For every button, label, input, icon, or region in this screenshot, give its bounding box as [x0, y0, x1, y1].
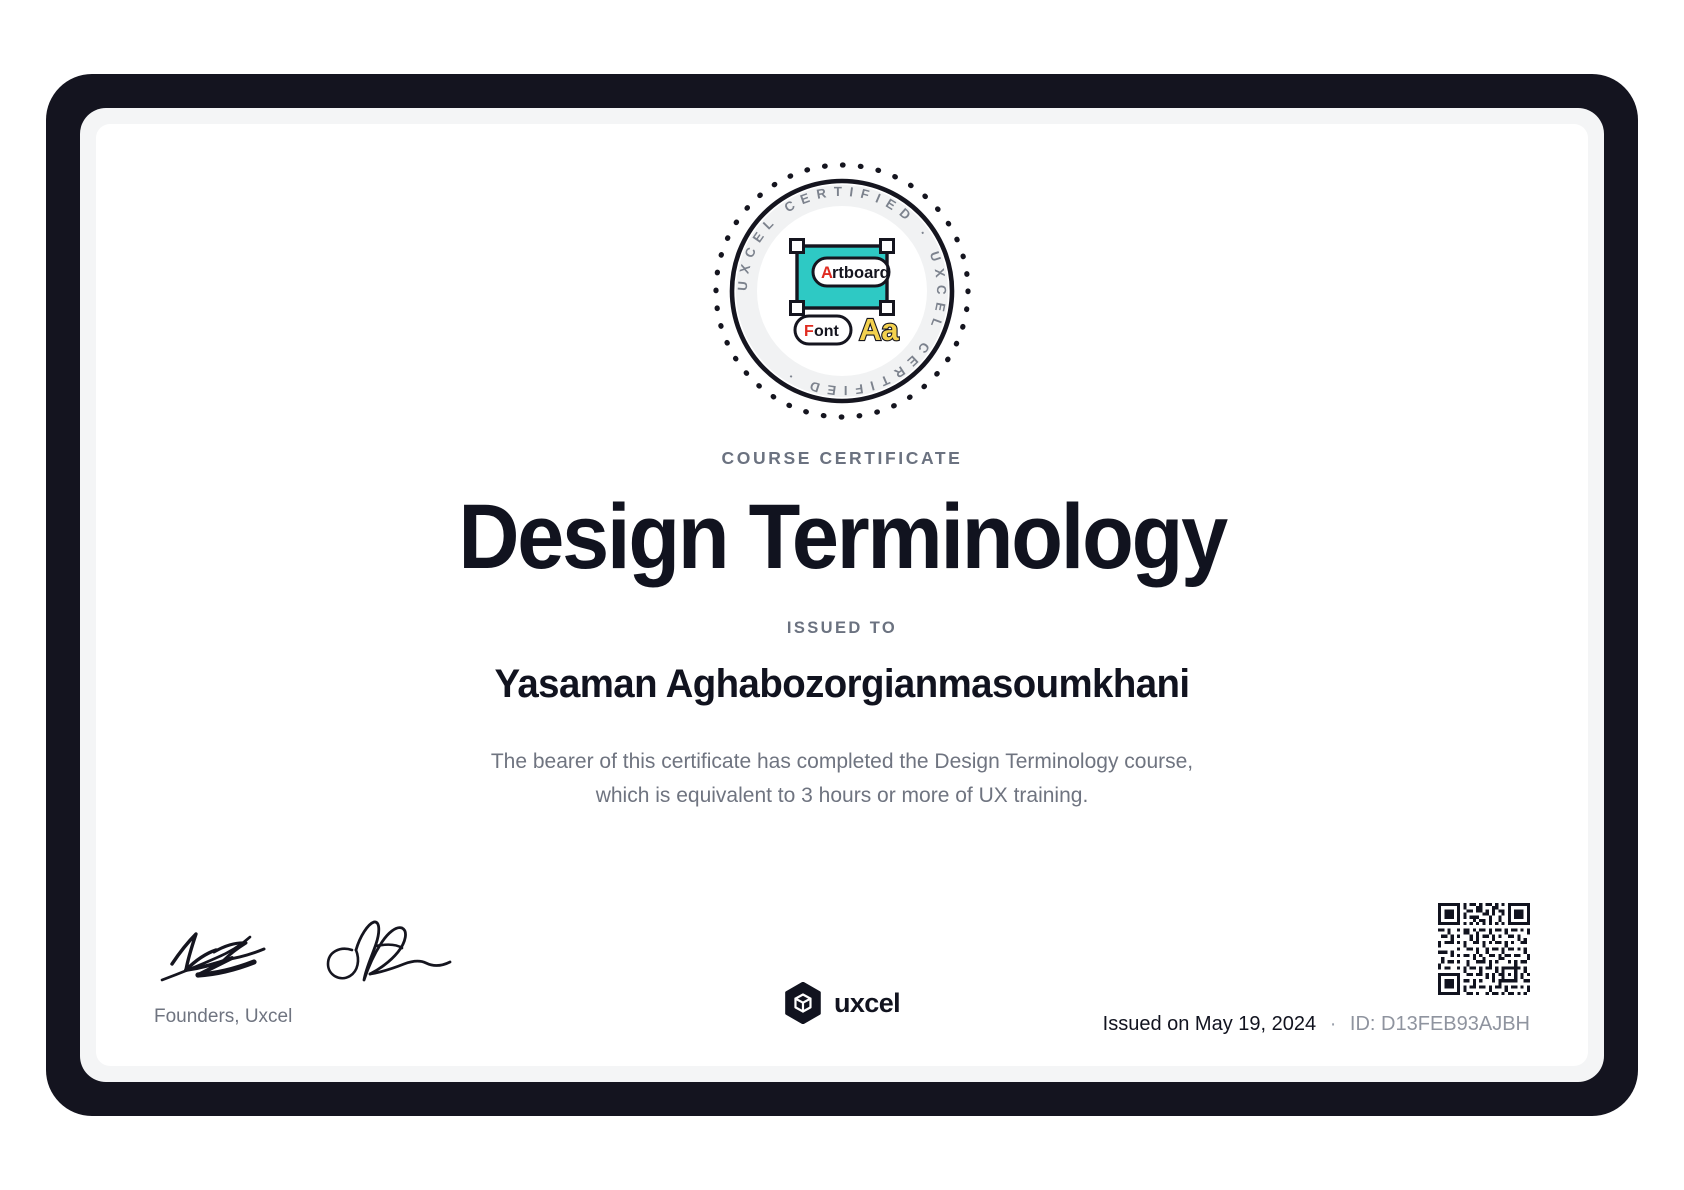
qr-code[interactable]	[1438, 903, 1530, 995]
uxcel-logo: uxcel	[784, 982, 900, 1024]
signature-one-icon	[154, 912, 314, 992]
issue-meta-line: Issued on May 19, 2024 · ID: D13FEB93AJB…	[970, 1013, 1530, 1036]
certificate-outer-frame: UXCEL CERTIFIED · UXCEL CERTIFIED · A rt…	[46, 74, 1638, 1116]
certificate-page: UXCEL CERTIFIED · UXCEL CERTIFIED · A rt…	[0, 0, 1684, 1190]
artboard-icon: A rtboard	[791, 240, 894, 315]
certificate-meta: Issued on May 19, 2024 · ID: D13FEB93AJB…	[970, 903, 1530, 1036]
meta-separator: ·	[1330, 1013, 1337, 1035]
uxcel-wordmark: uxcel	[834, 988, 900, 1019]
certificate-description: The bearer of this certificate has compl…	[491, 745, 1193, 813]
description-line-2: which is equivalent to 3 hours or more o…	[491, 779, 1193, 813]
signature-images	[154, 912, 494, 992]
artboard-pill: A rtboard	[813, 258, 890, 286]
certificate-card: UXCEL CERTIFIED · UXCEL CERTIFIED · A rt…	[96, 124, 1588, 1066]
signature-caption: Founders, Uxcel	[154, 1006, 494, 1028]
svg-text:rtboard: rtboard	[832, 264, 890, 282]
issued-to-label: ISSUED TO	[787, 619, 897, 638]
description-line-1: The bearer of this certificate has compl…	[491, 745, 1193, 779]
type-sample-glyphs: Aa	[859, 312, 899, 347]
svg-text:ont: ont	[814, 323, 840, 340]
signature-block: Founders, Uxcel	[154, 912, 494, 1028]
course-title: Design Terminology	[458, 491, 1226, 583]
certificate-mat: UXCEL CERTIFIED · UXCEL CERTIFIED · A rt…	[80, 108, 1604, 1082]
signature-two-icon	[316, 912, 466, 992]
certificate-footer: Founders, Uxcel uxcel	[96, 856, 1588, 1036]
recipient-name: Yasaman Aghabozorgianmasoumkhani	[494, 662, 1189, 707]
certificate-id: ID: D13FEB93AJBH	[1350, 1013, 1530, 1035]
svg-text:F: F	[804, 323, 814, 340]
certificate-kicker: COURSE CERTIFICATE	[722, 448, 963, 469]
uxcel-hexagon-icon	[784, 982, 822, 1024]
issued-on-text: Issued on May 19, 2024	[1103, 1013, 1316, 1035]
uxcel-certified-badge: UXCEL CERTIFIED · UXCEL CERTIFIED · A rt…	[709, 158, 975, 424]
